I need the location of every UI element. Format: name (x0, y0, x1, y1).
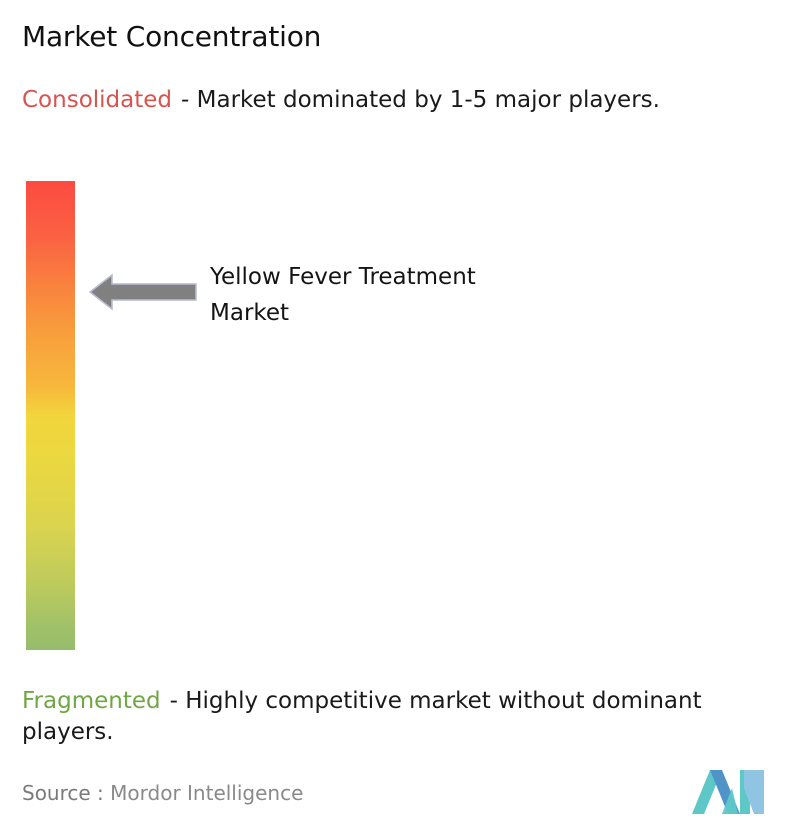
source-label: Source : (22, 781, 104, 805)
annotation-label: Yellow Fever Treatment Market (210, 259, 630, 331)
annotation-label-line1: Yellow Fever Treatment (210, 259, 630, 295)
concentration-gradient-bar (26, 181, 75, 650)
source-attribution: Source : Mordor Intelligence (22, 781, 303, 805)
annotation-label-line2: Market (210, 295, 630, 331)
source-name: Mordor Intelligence (110, 781, 303, 805)
callout-arrow-icon (88, 272, 198, 312)
legend-consolidated-description: - Market dominated by 1-5 major players. (181, 87, 660, 113)
legend-fragmented: Fragmented- Highly competitive market wi… (22, 686, 788, 748)
market-concentration-chart: Market Concentration Consolidated- Marke… (0, 0, 796, 834)
legend-fragmented-keyword: Fragmented (22, 688, 161, 714)
legend-consolidated: Consolidated- Market dominated by 1-5 ma… (22, 85, 762, 116)
mordor-intelligence-logo-icon (692, 768, 764, 816)
legend-consolidated-keyword: Consolidated (22, 87, 172, 113)
page-title: Market Concentration (22, 20, 321, 53)
